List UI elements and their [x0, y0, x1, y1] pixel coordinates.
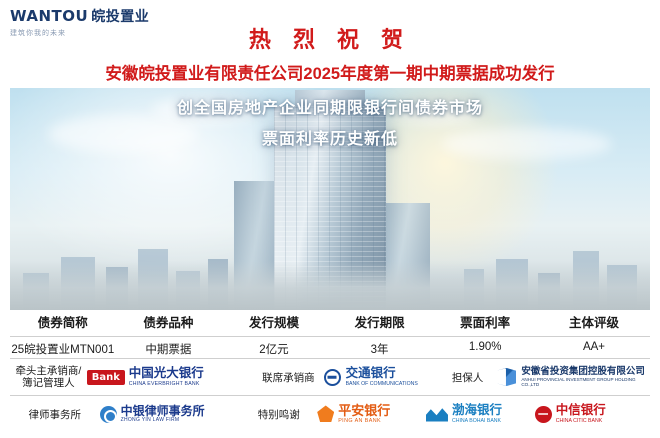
table-row: 25皖投置业MTN001 中期票据 2亿元 3年 1.90% AA+	[10, 337, 650, 357]
pingan-name-en: PING AN BANK	[338, 418, 390, 424]
page-title: 热 烈 祝 贺	[0, 22, 660, 54]
zhongyin-mark-icon	[100, 406, 117, 423]
logo-zhongyin-law-firm: 中银律师事务所 ZHONG YIN LAW FIRM	[100, 405, 241, 424]
bohai-mark-icon	[426, 407, 448, 422]
page-subtitle: 安徽皖投置业有限责任公司2025年度第一期中期票据成功发行	[0, 60, 660, 84]
zhongyin-name-en: ZHONG YIN LAW FIRM	[121, 417, 205, 423]
logo-citic-bank: 中信银行 CHINA CITIC BANK	[535, 404, 650, 423]
table-header-cell: 发行规模	[221, 312, 327, 331]
bocom-name-en: BANK OF COMMUNICATIONS	[346, 381, 418, 387]
everbright-name-cn: 中国光大银行	[129, 367, 204, 380]
hero-image: 创全国房地产企业同期限银行间债券市场 票面利率历史新低	[10, 88, 650, 310]
partner-row-underwriters: 牵头主承销商/ 簿记管理人 Bank 中国光大银行 CHINA EVERBRIG…	[10, 359, 650, 395]
bohai-name-en: CHINA BOHAI BANK	[452, 418, 502, 424]
lead-underwriter-label: 牵头主承销商/ 簿记管理人	[10, 365, 87, 389]
citic-name-en: CHINA CITIC BANK	[556, 418, 606, 424]
table-header-row: 债券简称 债券品种 发行规模 发行期限 票面利率 主体评级	[10, 312, 650, 336]
citic-mark-icon	[535, 406, 552, 423]
logo-bohai-bank: 渤海银行 CHINA BOHAI BANK	[426, 404, 535, 423]
everbright-name-en: CHINA EVERBRIGHT BANK	[129, 381, 204, 387]
table-cell: 25皖投置业MTN001	[10, 341, 116, 357]
bohai-name-cn: 渤海银行	[452, 404, 502, 417]
logo-bank-of-communications: 交通银行 BANK OF COMMUNICATIONS	[324, 367, 439, 386]
pingan-mark-icon	[317, 405, 334, 422]
anhui-group-mark-icon	[496, 368, 516, 386]
bocom-name-cn: 交通银行	[346, 367, 418, 380]
poster-root: WANTOU 皖投置业 建筑你我的未来 热 烈 祝 贺 安徽皖投置业有限责任公司…	[0, 0, 660, 438]
table-cell: 2亿元	[221, 341, 327, 357]
hero-caption: 创全国房地产企业同期限银行间债券市场 票面利率历史新低	[10, 94, 650, 149]
guarantor-label: 担保人	[439, 370, 497, 385]
hero-caption-line2: 票面利率历史新低	[10, 125, 650, 149]
special-thanks-label: 特别鸣谢	[240, 407, 317, 422]
bocom-mark-icon	[324, 369, 341, 386]
lead-underwriter-label-line1: 牵头主承销商/	[10, 365, 87, 377]
everbright-mark-icon: Bank	[87, 370, 125, 385]
zhongyin-name-cn: 中银律师事务所	[121, 405, 205, 418]
logo-anhui-investment-group: 安徽省投资集团控股有限公司 ANHUI PROVINCIAL INVESTMEN…	[496, 367, 650, 387]
logo-pingan-bank: 平安银行 PING AN BANK	[317, 404, 426, 424]
colead-underwriter-label: 联席承销商	[253, 370, 323, 385]
citic-name-cn: 中信银行	[556, 404, 606, 417]
hero-caption-line1: 创全国房地产企业同期限银行间债券市场	[10, 94, 650, 118]
pingan-name-cn: 平安银行	[338, 404, 390, 418]
table-cell: 3年	[327, 341, 433, 357]
partner-row-counsel-thanks: 律师事务所 中银律师事务所 ZHONG YIN LAW FIRM 特别鸣谢 平安…	[10, 396, 650, 432]
table-header-cell: 债券简称	[10, 312, 116, 331]
law-firm-label: 律师事务所	[10, 407, 100, 422]
table-cell: 1.90%	[432, 341, 538, 357]
ground-haze	[10, 261, 650, 310]
anhui-group-name-en: ANHUI PROVINCIAL INVESTMENT GROUP HOLDIN…	[521, 377, 650, 387]
lead-underwriter-label-line2: 簿记管理人	[10, 377, 87, 389]
bond-info-table: 债券简称 债券品种 发行规模 发行期限 票面利率 主体评级 25皖投置业MTN0…	[10, 312, 650, 357]
table-cell: AA+	[538, 341, 650, 357]
partners-section: 牵头主承销商/ 簿记管理人 Bank 中国光大银行 CHINA EVERBRIG…	[10, 358, 650, 432]
table-header-cell: 票面利率	[432, 312, 538, 331]
anhui-group-name-cn: 安徽省投资集团控股有限公司	[521, 367, 650, 377]
table-header-cell: 主体评级	[538, 312, 650, 331]
table-header-cell: 发行期限	[327, 312, 433, 331]
table-cell: 中期票据	[116, 341, 222, 357]
logo-everbright-bank: Bank 中国光大银行 CHINA EVERBRIGHT BANK	[87, 367, 253, 386]
table-header-cell: 债券品种	[116, 312, 222, 331]
